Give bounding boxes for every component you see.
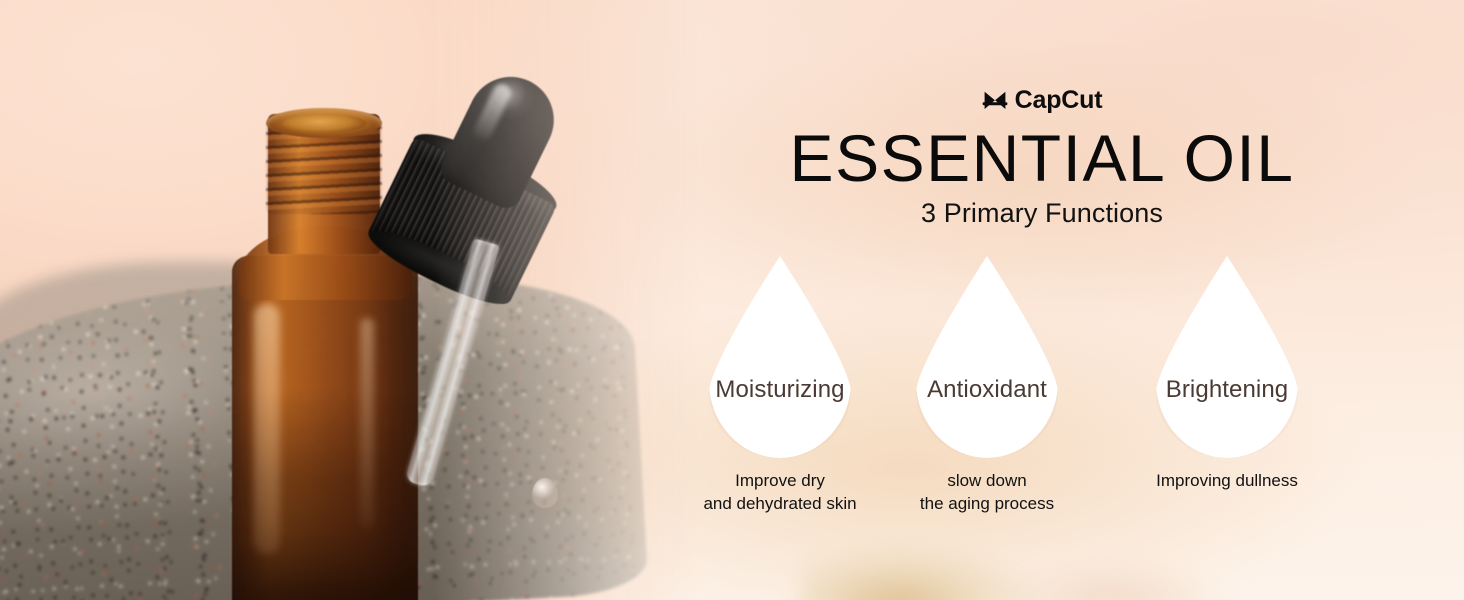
function-label: Moisturizing — [685, 376, 875, 404]
bottle-mouth-opening — [282, 114, 366, 133]
glass-pipette — [452, 242, 572, 542]
function-item: Brightening Improving dullness — [1107, 256, 1347, 493]
function-label: Brightening — [1132, 376, 1322, 404]
page-title: ESSENTIAL OIL — [620, 124, 1464, 193]
function-item: Antioxidant slow down the aging process — [867, 256, 1107, 516]
droplet-icon: Brightening — [1156, 256, 1298, 458]
function-caption: Improving dullness — [1107, 470, 1347, 493]
essential-oil-banner: CapCut ESSENTIAL OIL 3 Primary Functions… — [0, 0, 1464, 600]
function-caption: slow down the aging process — [867, 470, 1107, 516]
capcut-logo: CapCut — [620, 88, 1464, 113]
bottle-highlight-left — [254, 304, 280, 554]
banner-content: CapCut ESSENTIAL OIL 3 Primary Functions… — [620, 0, 1464, 600]
droplet-icon: Antioxidant — [916, 256, 1058, 458]
function-caption: Improve dry and dehydrated skin — [660, 470, 900, 516]
function-label: Antioxidant — [892, 376, 1082, 404]
function-item: Moisturizing Improve dry and dehydrated … — [660, 256, 900, 516]
page-subtitle: 3 Primary Functions — [620, 198, 1464, 229]
oil-droplet — [532, 478, 558, 508]
droplet-icon: Moisturizing — [709, 256, 851, 458]
functions-list: Moisturizing Improve dry and dehydrated … — [620, 256, 1464, 546]
capcut-logo-text: CapCut — [1015, 88, 1103, 113]
product-photo — [0, 0, 700, 600]
capcut-scissors-icon — [982, 90, 1008, 112]
bottle-highlight-right — [360, 318, 374, 528]
